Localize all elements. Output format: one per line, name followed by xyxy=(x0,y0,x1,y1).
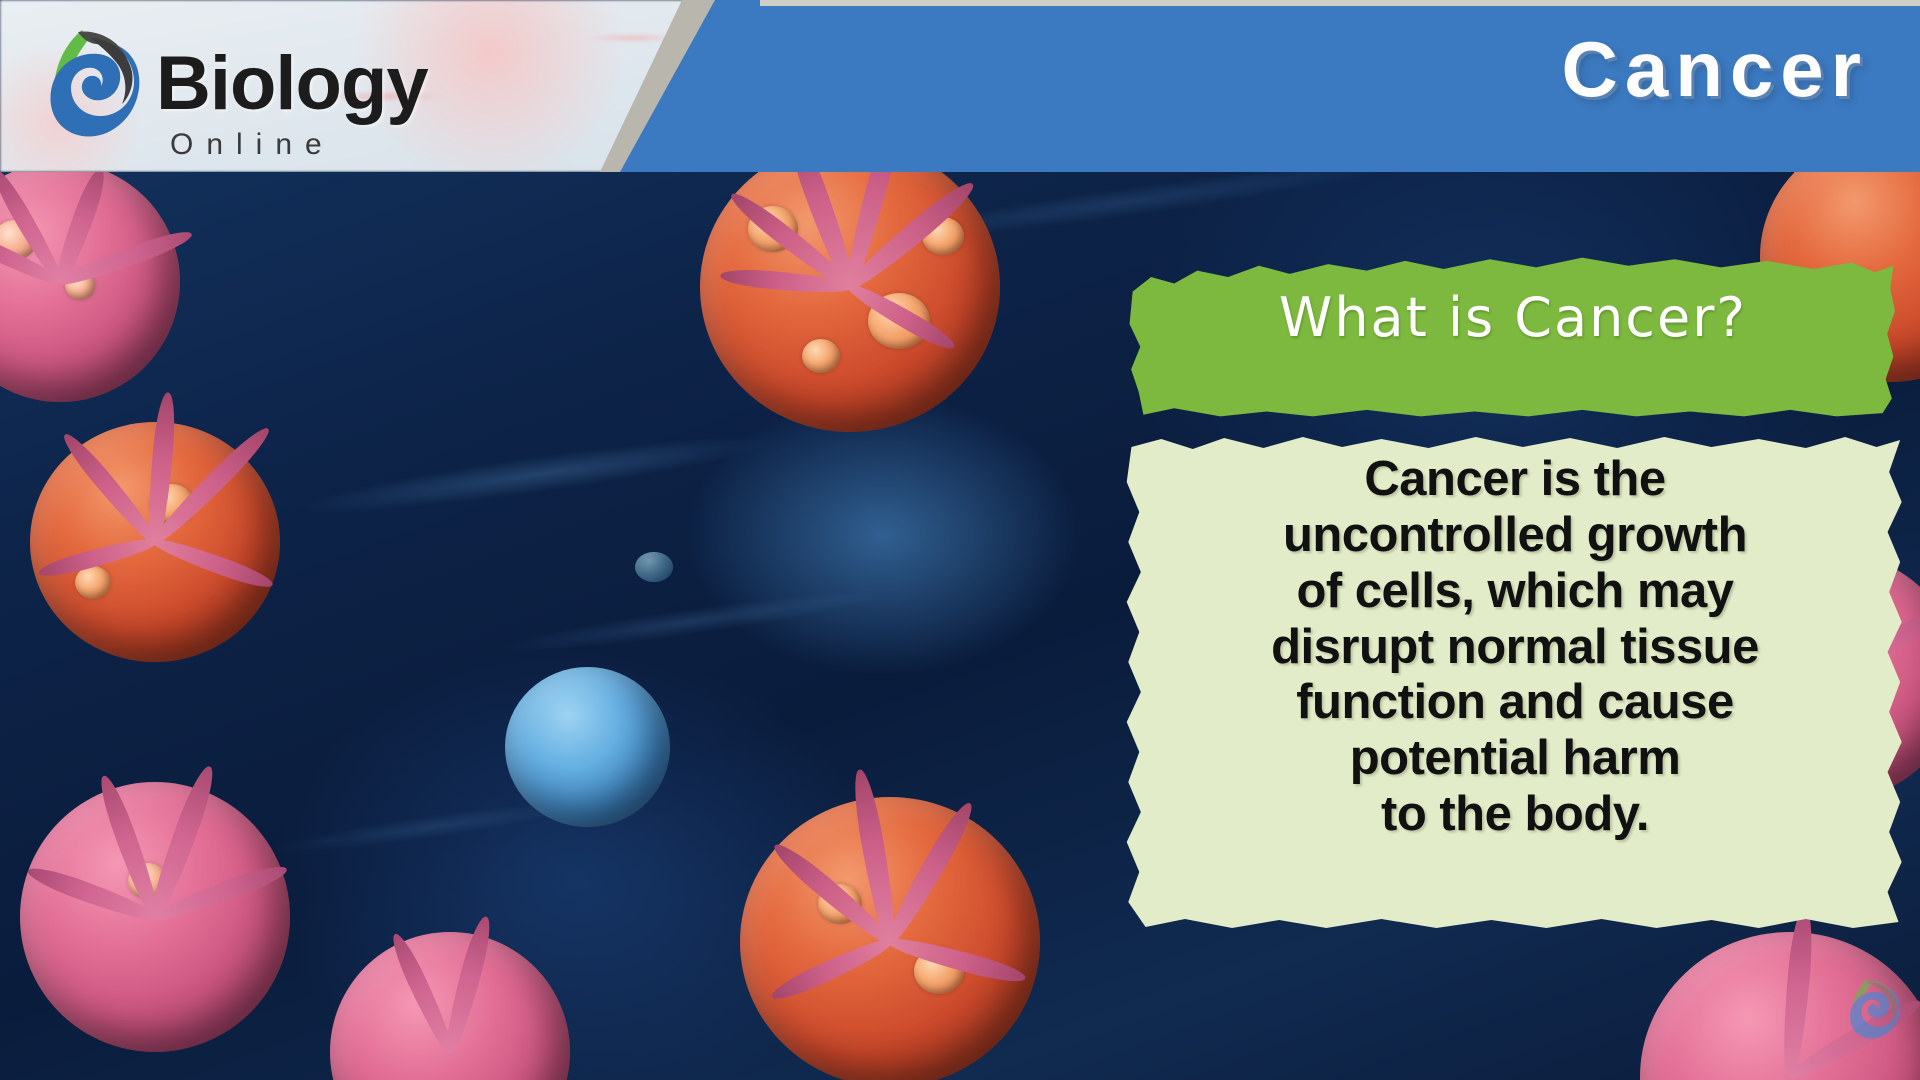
cell-core xyxy=(635,552,673,582)
cancer-cell-red-mid-left xyxy=(30,422,280,662)
cancer-cell-pink-bottom-left xyxy=(20,782,290,1052)
heading-text: What is Cancer? xyxy=(1128,286,1898,349)
definition-line: uncontrolled growth xyxy=(1144,508,1886,564)
page-header: Cancer Biology Online xyxy=(0,0,1920,172)
cancer-cell-red-top xyxy=(700,172,1000,432)
cell-nodule xyxy=(75,566,111,599)
cancer-cell-blue-small xyxy=(505,667,670,827)
logo-wordmark: Biology xyxy=(156,46,428,122)
biology-online-leaf-spiral-logo-icon xyxy=(38,24,148,148)
cancer-cell-pink-mid xyxy=(330,932,570,1080)
definition-line: function and cause xyxy=(1144,675,1886,731)
cell-fragment-blue xyxy=(635,552,673,582)
definition-line: Cancer is the xyxy=(1144,452,1886,508)
definition-line: disrupt normal tissue xyxy=(1144,620,1886,676)
definition-line: to the body. xyxy=(1144,787,1886,843)
cancer-cell-pink-upper-left xyxy=(0,172,180,402)
definition-text: Cancer is the uncontrolled growth of cel… xyxy=(1122,452,1908,843)
cell-core xyxy=(505,667,670,827)
definition-line: of cells, which may xyxy=(1144,564,1886,620)
cell-core xyxy=(330,932,570,1080)
cancer-cell-red-bottom-center xyxy=(740,797,1040,1080)
logo-subtitle: Online xyxy=(170,128,335,162)
definition-line: potential harm xyxy=(1144,731,1886,787)
cell-nodule xyxy=(802,339,840,373)
biology-online-watermark-icon xyxy=(1843,974,1905,1046)
slide-canvas: Cancer Biology Online What is Cancer? Ca… xyxy=(0,0,1920,1080)
page-title: Cancer xyxy=(1562,30,1868,108)
biology-online-logo[interactable]: Biology Online xyxy=(38,24,488,172)
banner-top-strip xyxy=(760,0,1920,6)
